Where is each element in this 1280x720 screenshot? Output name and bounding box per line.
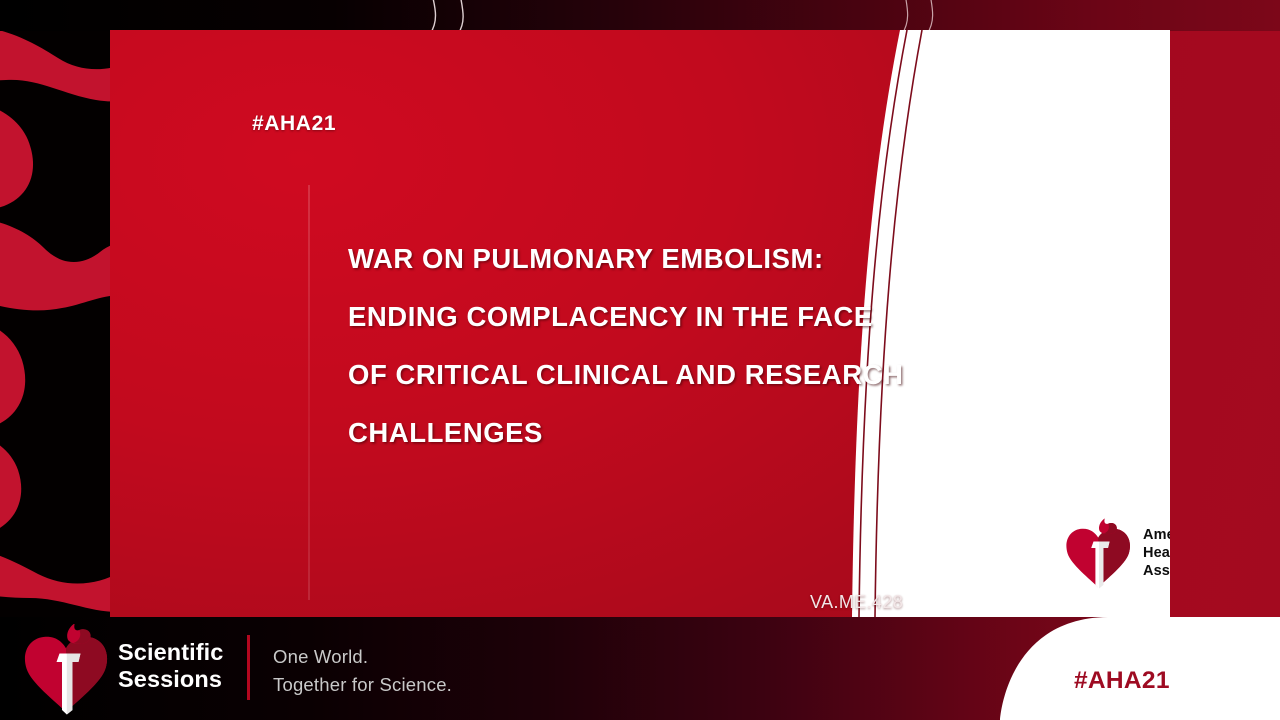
title-line-1: WAR ON PULMONARY EMBOLISM:	[348, 230, 1028, 288]
footer-divider	[247, 635, 250, 700]
aha-word-line-3: Association.	[1143, 562, 1170, 580]
session-title: WAR ON PULMONARY EMBOLISM: ENDING COMPLA…	[348, 230, 1028, 462]
title-line-2: ENDING COMPLACENCY IN THE FACE	[348, 288, 1028, 346]
title-accent-rule	[308, 185, 310, 600]
title-line-3: OF CRITICAL CLINICAL AND RESEARCH	[348, 346, 1028, 404]
aha-heart-torch-icon	[1065, 517, 1131, 589]
aha-logo-lockup: American Heart Association.	[1065, 517, 1170, 589]
hashtag-bottom-label: #AHA21	[1074, 667, 1170, 695]
footer-aha-heart-torch-icon	[22, 624, 110, 716]
tagline-line-2: Together for Science.	[273, 671, 452, 699]
brand-line-1: Scientific	[118, 639, 223, 666]
scientific-sessions-brand: Scientific Sessions	[118, 639, 223, 693]
aha-word-line-1: American	[1143, 526, 1170, 544]
aha-word-line-2: Heart	[1143, 544, 1170, 562]
aha-wordmark: American Heart Association.	[1143, 526, 1170, 581]
hashtag-top-label: #AHA21	[252, 112, 336, 136]
brand-line-2: Sessions	[118, 666, 223, 693]
session-code-label: VA.ME.428	[810, 592, 903, 613]
title-line-4: CHALLENGES	[348, 404, 1028, 462]
content-panel: #AHA21 WAR ON PULMONARY EMBOLISM: ENDING…	[110, 30, 1170, 617]
footer-tagline: One World. Together for Science.	[273, 643, 452, 699]
tagline-line-1: One World.	[273, 643, 452, 671]
presentation-slide: #AHA21 WAR ON PULMONARY EMBOLISM: ENDING…	[0, 0, 1280, 720]
